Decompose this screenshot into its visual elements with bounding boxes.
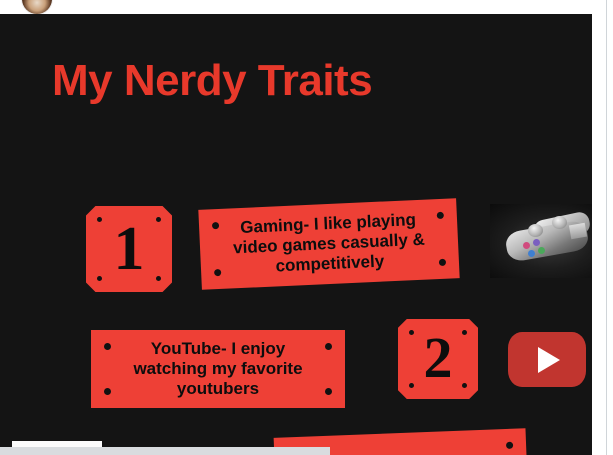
play-triangle-icon bbox=[538, 347, 560, 373]
plaque-dot-top-right bbox=[506, 442, 513, 449]
number-tile-2[interactable]: 2 bbox=[398, 319, 478, 399]
horizontal-scrollbar[interactable] bbox=[0, 447, 330, 455]
game-controller-image[interactable] bbox=[490, 204, 592, 278]
youtube-play-icon[interactable] bbox=[508, 332, 586, 387]
plaque-dot-bottom-left bbox=[104, 388, 111, 395]
controller-button-square-icon bbox=[523, 242, 530, 249]
presentation-viewport: My Nerdy Traits 1 Gaming- I like playing… bbox=[0, 0, 613, 455]
controller-stick-left-icon bbox=[528, 224, 543, 237]
plaque-text: Gaming- I like playing video games casua… bbox=[199, 209, 459, 280]
tile-number-label: 2 bbox=[398, 325, 478, 391]
avatar[interactable] bbox=[22, 0, 52, 14]
vertical-scrollbar[interactable] bbox=[606, 0, 607, 455]
trait-plaque-youtube[interactable]: YouTube- I enjoy watching my favorite yo… bbox=[91, 330, 345, 408]
page-top-strip bbox=[0, 0, 613, 14]
trait-plaque-gaming[interactable]: Gaming- I like playing video games casua… bbox=[198, 198, 459, 290]
controller-button-triangle-icon bbox=[533, 239, 540, 246]
tile-number-label: 1 bbox=[86, 214, 172, 284]
plaque-dot-top-right bbox=[325, 343, 332, 350]
slide-canvas[interactable]: My Nerdy Traits 1 Gaming- I like playing… bbox=[0, 14, 592, 455]
plaque-text: YouTube- I enjoy watching my favorite yo… bbox=[91, 339, 345, 398]
controller-button-circle-icon bbox=[538, 247, 545, 254]
number-tile-1[interactable]: 1 bbox=[86, 206, 172, 292]
controller-stick-right-icon bbox=[552, 216, 567, 229]
page-title: My Nerdy Traits bbox=[52, 56, 372, 106]
plaque-dot-top-left bbox=[104, 343, 111, 350]
plaque-dot-bottom-right bbox=[325, 388, 332, 395]
controller-button-cross-icon bbox=[528, 250, 535, 257]
controller-dpad-icon bbox=[569, 223, 587, 240]
